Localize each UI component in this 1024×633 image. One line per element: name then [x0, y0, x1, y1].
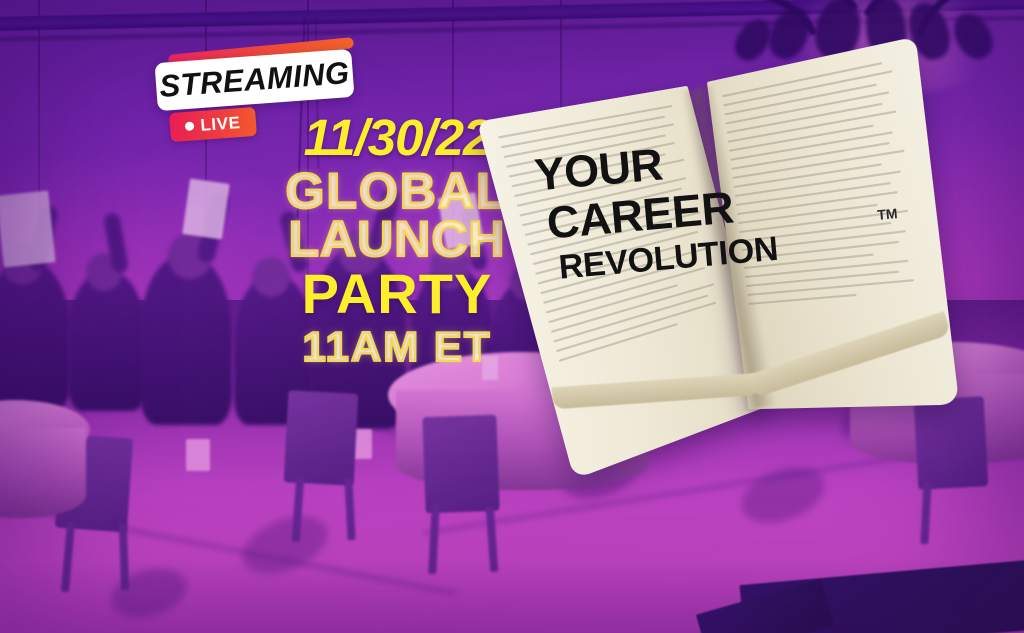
book-cover-title: YOUR CAREER REVOLUTION TM	[533, 124, 873, 286]
live-badge: LIVE	[169, 107, 257, 142]
live-label: LIVE	[200, 114, 241, 134]
live-dot-icon	[185, 121, 195, 131]
poster-canvas: STREAMING LIVE 11/30/22 GLOBAL LAUNCH PA…	[0, 0, 1024, 633]
headline-party: PARTY	[262, 266, 532, 322]
event-time: 11AM ET	[262, 326, 532, 368]
trademark-symbol: TM	[877, 206, 898, 222]
headline-launch: LAUNCH	[262, 214, 532, 264]
